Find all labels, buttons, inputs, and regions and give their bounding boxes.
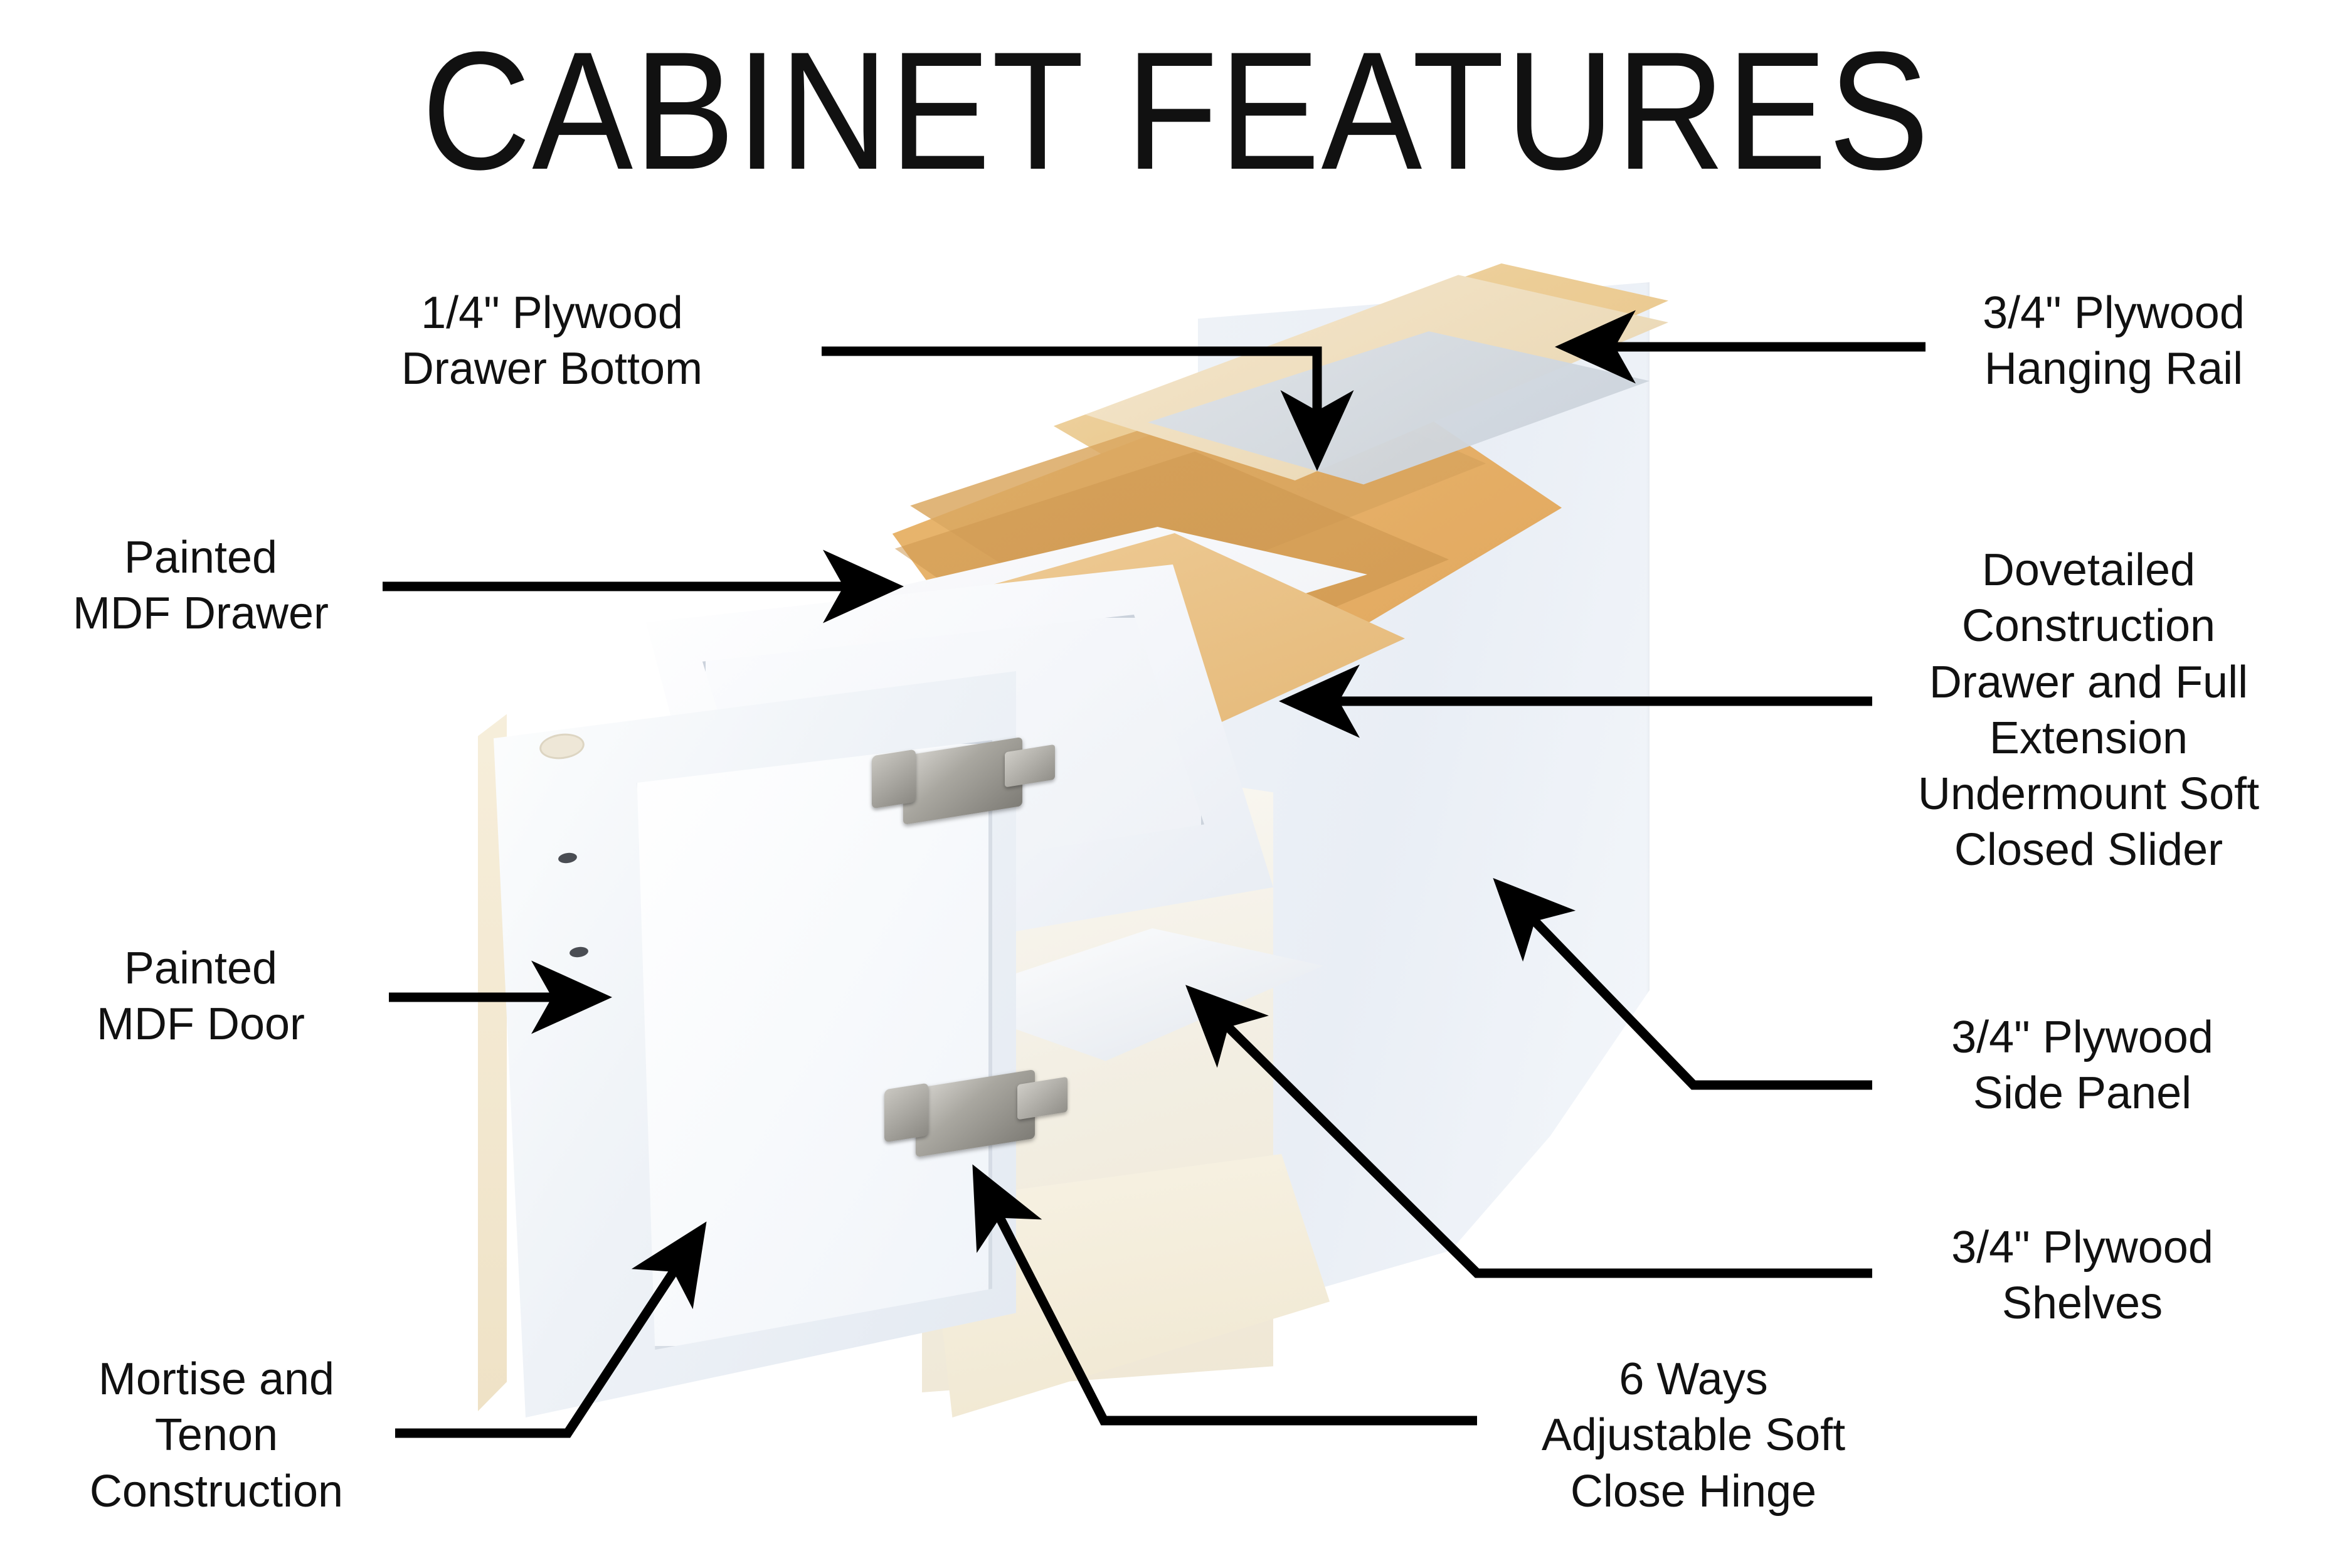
label-side-panel: 3/4" Plywood Side Panel: [1882, 1010, 2283, 1122]
hinge-cup-upper: [872, 749, 916, 808]
label-mortise-tenon: Mortise and Tenon Construction: [38, 1352, 395, 1520]
cabinet-photo: [521, 263, 1599, 1417]
label-dovetailed-construction: Dovetailed Construction Drawer and Full …: [1872, 543, 2305, 879]
label-painted-mdf-drawer: Painted MDF Drawer: [38, 530, 364, 642]
label-hanging-rail: 3/4" Plywood Hanging Rail: [1926, 285, 2302, 398]
door-center-panel: [633, 740, 992, 1350]
label-drawer-bottom: 1/4" Plywood Drawer Bottom: [358, 285, 746, 398]
hinge-cup-lower: [884, 1083, 928, 1142]
label-painted-mdf-door: Painted MDF Door: [38, 941, 364, 1053]
page-title: CABINET FEATURES: [118, 26, 2235, 194]
label-shelves: 3/4" Plywood Shelves: [1882, 1220, 2283, 1332]
poster-canvas: CABINET FEATURES: [0, 0, 2352, 1568]
label-soft-close-hinge: 6 Ways Adjustable Soft Close Hinge: [1480, 1352, 1907, 1520]
